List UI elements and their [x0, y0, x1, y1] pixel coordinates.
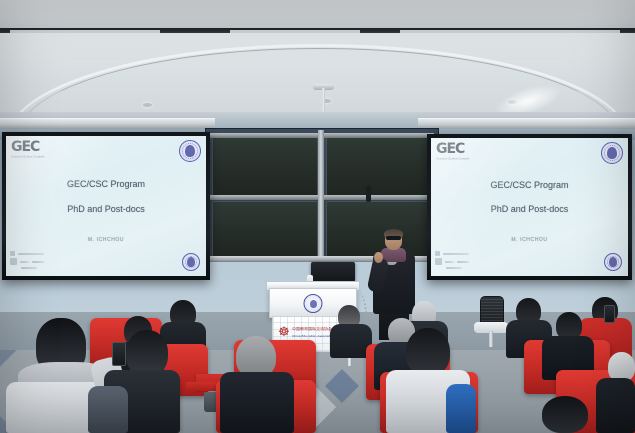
blackboard-panel [326, 137, 432, 197]
seal-emblem [310, 300, 317, 308]
seal-emblem [607, 147, 617, 159]
slide-footer [10, 251, 126, 271]
slide-footer-row [435, 267, 549, 269]
footer-text-line [457, 261, 469, 263]
blackboard-panel [212, 137, 318, 197]
footer-logo-mark [435, 251, 440, 256]
slide-subtitle: PhD and Post-docs [431, 204, 628, 214]
university-seal-icon [601, 142, 623, 164]
slide-subtitle: PhD and Post-docs [6, 204, 206, 214]
presenter-hand [374, 252, 383, 263]
scarf [88, 386, 128, 433]
slide-footer-row [10, 267, 126, 269]
ceiling-downlight [143, 103, 152, 107]
smartphone-icon[interactable] [112, 342, 126, 366]
slide-footer [435, 251, 549, 271]
slide-title: GEC/CSC Program [431, 180, 628, 190]
dragon-emblem-icon: ☸ [278, 325, 291, 340]
slide-footer-row [10, 251, 126, 256]
lectern-banner-line-1: 中国教育国际交流协会 [292, 326, 332, 331]
ceiling-upper-band [0, 0, 635, 30]
lecture-hall-scene: GEC Grandes Ecoles Centrale GEC/CSC Prog… [0, 0, 635, 433]
gec-logo: GEC [11, 140, 39, 154]
university-seal-icon [179, 140, 201, 162]
footer-text-line [18, 253, 44, 255]
jacket-stripe [446, 384, 476, 433]
lectern-banner-line-2: China Education Association [292, 334, 335, 337]
footer-text-line [20, 261, 29, 263]
footer-text-line [32, 261, 44, 263]
audience-torso [596, 378, 635, 433]
footer-text-line [445, 261, 454, 263]
footer-logo-mark [435, 258, 442, 265]
seal-emblem [185, 145, 195, 157]
footer-text-line [443, 253, 469, 255]
blackboard-panel [326, 201, 432, 257]
slide-footer-row [10, 258, 126, 265]
slide-author: M. ICHCHOU [431, 237, 628, 243]
slide-author: M. ICHCHOU [6, 237, 206, 243]
laptop-on-lectern[interactable] [311, 262, 355, 282]
university-seal-icon-footer [182, 253, 200, 271]
footer-logo-mark [10, 258, 17, 265]
sunglasses-icon [386, 236, 401, 240]
footer-text-line [21, 267, 37, 269]
footer-logo-mark [10, 251, 15, 256]
lectern-seal-icon [304, 294, 323, 313]
audience-head [542, 396, 588, 433]
seal-emblem [609, 257, 617, 267]
right-projection-screen[interactable]: GEC Grandes Ecoles Centrale GEC/CSC Prog… [427, 134, 632, 280]
slide-title: GEC/CSC Program [6, 179, 206, 189]
footer-text-line [446, 267, 462, 269]
right-slide-surface: GEC Grandes Ecoles Centrale GEC/CSC Prog… [431, 138, 628, 276]
slide-footer-row [435, 258, 549, 265]
gec-logo: GEC [436, 142, 464, 156]
audience-torso [220, 372, 294, 433]
soffit-beam [0, 118, 215, 129]
blackboard-center-post [318, 130, 324, 258]
university-seal-icon-footer [604, 253, 622, 271]
smartphone-icon[interactable] [604, 305, 615, 323]
office-chair-post [489, 331, 493, 347]
seal-emblem [187, 257, 195, 267]
gec-logo-subtitle: Grandes Ecoles Centrale [11, 155, 45, 158]
blackboard-panel [212, 201, 318, 257]
slide-footer-row [435, 251, 549, 256]
audience-head [406, 328, 450, 376]
left-slide-surface: GEC Grandes Ecoles Centrale GEC/CSC Prog… [6, 136, 206, 276]
soffit-beam [418, 118, 635, 129]
gec-logo-subtitle: Grandes Ecoles Centrale [436, 157, 470, 160]
blackboard-clip [366, 186, 371, 202]
left-projection-screen[interactable]: GEC Grandes Ecoles Centrale GEC/CSC Prog… [2, 132, 210, 280]
